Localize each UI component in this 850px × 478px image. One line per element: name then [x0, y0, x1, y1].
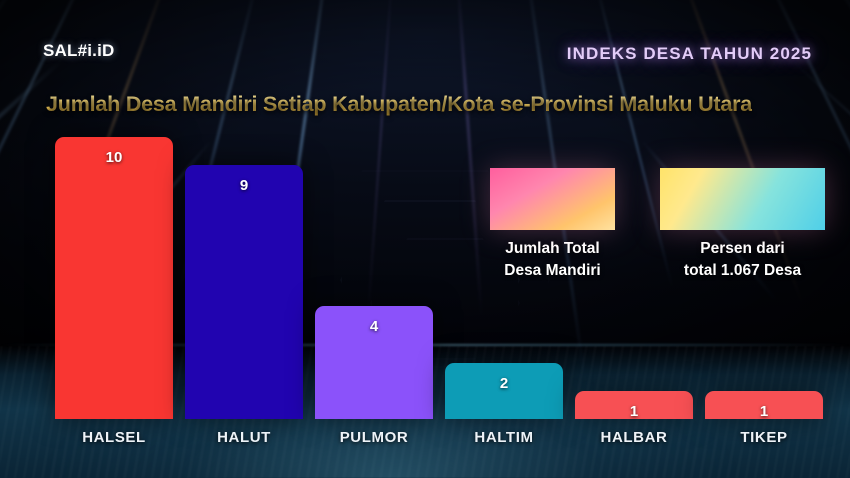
kpi-persen-desa-mandiri: 2,53 Persen dari total 1.067 Desa: [660, 168, 825, 281]
kpi-caption-line1: Jumlah Total: [490, 239, 615, 259]
page-title: Jumlah Desa Mandiri Setiap Kabupaten/Kot…: [46, 92, 752, 117]
kpi-total-desa-mandiri: 27 Jumlah Total Desa Mandiri: [490, 168, 615, 281]
kpi-caption-line2: total 1.067 Desa: [660, 261, 825, 281]
kpi-value: 27: [490, 168, 615, 230]
kpi-caption-line1: Persen dari: [660, 239, 825, 259]
infographic-canvas: SAL#i.iD INDEKS DESA TAHUN 2025 Jumlah D…: [0, 0, 850, 478]
kpi-caption-line2: Desa Mandiri: [490, 261, 615, 281]
report-kicker: INDEKS DESA TAHUN 2025: [567, 44, 812, 64]
floor-reflection: [0, 346, 850, 478]
brand-logo: SAL#i.iD: [43, 41, 115, 61]
kpi-value: 2,53: [660, 168, 825, 230]
